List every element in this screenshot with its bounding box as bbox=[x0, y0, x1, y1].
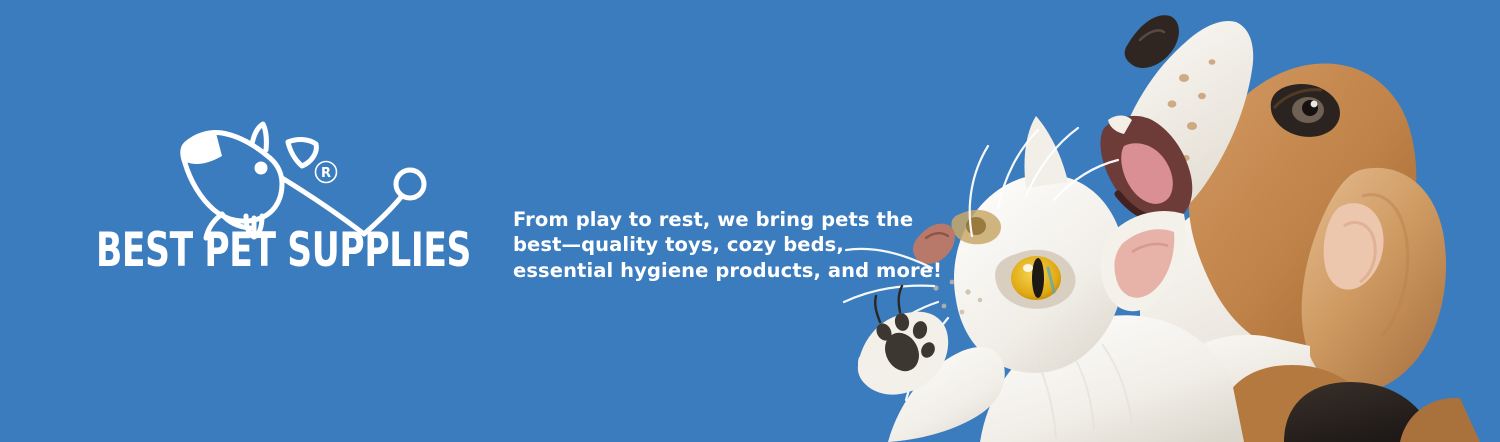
svg-text:R: R bbox=[321, 166, 331, 181]
beagle-dog-figure bbox=[1100, 15, 1480, 442]
registered-trademark-icon: R bbox=[313, 159, 339, 185]
promotional-banner: BEST PET SUPPLIES R From play to rest, w… bbox=[0, 0, 1500, 442]
brand-name-text: BEST PET SUPPLIES bbox=[96, 226, 471, 278]
brand-logo[interactable]: BEST PET SUPPLIES bbox=[96, 122, 476, 282]
tagline-text: From play to rest, we bring pets the bes… bbox=[513, 207, 943, 284]
brand-wordmark: BEST PET SUPPLIES bbox=[96, 226, 476, 278]
